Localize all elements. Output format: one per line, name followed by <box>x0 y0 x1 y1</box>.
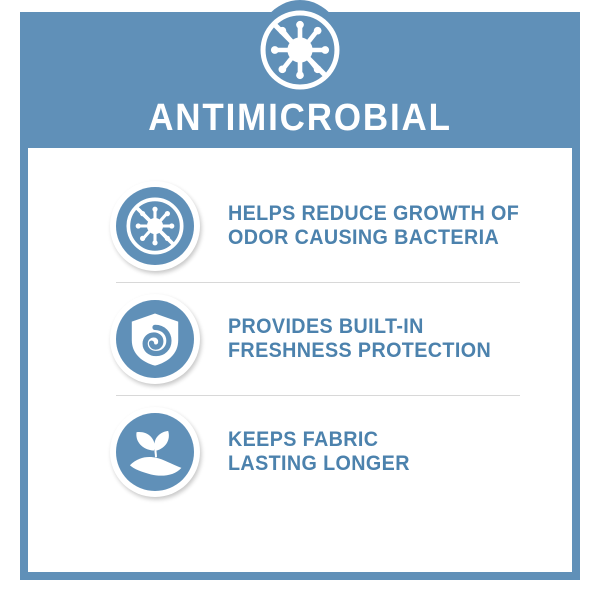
feature-text: KEEPS FABRIC LASTING LONGER <box>228 428 410 476</box>
antimicrobial-infographic: ANTIMICROBIAL <box>0 0 600 600</box>
feature-row-bacteria: HELPS REDUCE GROWTH OF ODOR CAUSING BACT… <box>28 170 572 282</box>
badge-inner-circle <box>116 187 194 265</box>
feature-icon-badge <box>110 294 200 384</box>
feature-list: HELPS REDUCE GROWTH OF ODOR CAUSING BACT… <box>28 148 572 572</box>
no-germ-icon <box>258 8 342 92</box>
feature-icon-badge <box>110 181 200 271</box>
feature-text-line1: KEEPS FABRIC <box>228 428 410 452</box>
header-icon-bump <box>254 0 346 92</box>
feature-icon-badge <box>110 407 200 497</box>
feature-row-freshness: PROVIDES BUILT-IN FRESHNESS PROTECTION <box>28 283 572 395</box>
shield-swirl-icon <box>126 310 184 368</box>
no-germ-icon <box>124 195 186 257</box>
header-icon-container <box>0 0 600 96</box>
feature-row-fabric: KEEPS FABRIC LASTING LONGER <box>28 396 572 508</box>
page-title: ANTIMICROBIAL <box>24 96 576 140</box>
feature-text-line2: ODOR CAUSING BACTERIA <box>228 226 519 250</box>
feature-text-line2: LASTING LONGER <box>228 452 410 476</box>
feature-text: HELPS REDUCE GROWTH OF ODOR CAUSING BACT… <box>228 202 519 250</box>
feature-text-line1: PROVIDES BUILT-IN <box>228 315 491 339</box>
feature-text: PROVIDES BUILT-IN FRESHNESS PROTECTION <box>228 315 491 363</box>
badge-inner-circle <box>116 413 194 491</box>
leaves-fabric-icon <box>122 419 188 485</box>
feature-text-line1: HELPS REDUCE GROWTH OF <box>228 202 519 226</box>
feature-text-line2: FRESHNESS PROTECTION <box>228 339 491 363</box>
badge-inner-circle <box>116 300 194 378</box>
